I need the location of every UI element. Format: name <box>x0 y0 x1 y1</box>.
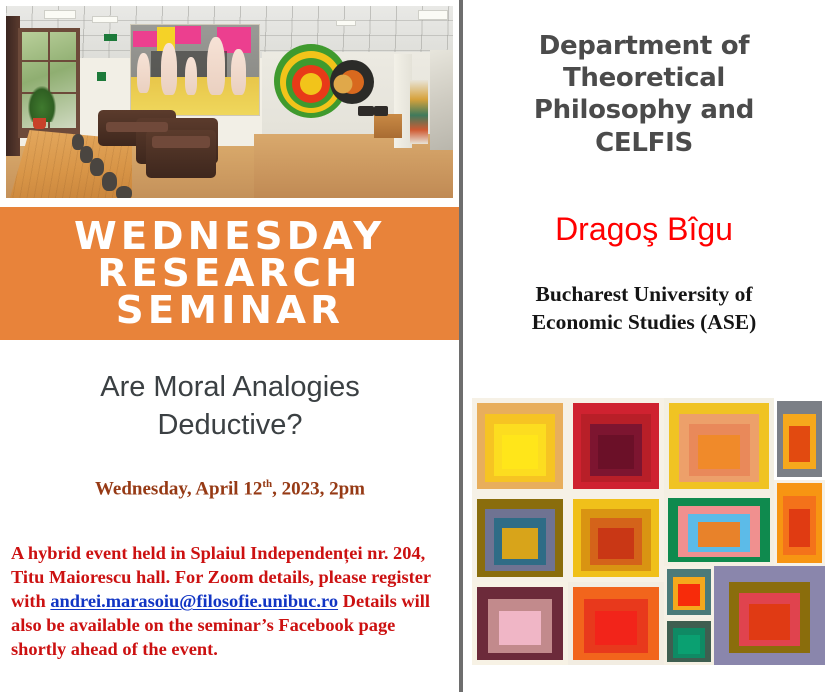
artwork-collage <box>472 398 825 665</box>
artwork-square-layer <box>789 426 811 461</box>
talk-date-ordinal: th <box>262 478 272 490</box>
department-name: Department of Theoretical Philosophy and… <box>477 30 811 159</box>
artwork-square-layer <box>502 435 538 469</box>
artwork-square-layer <box>749 604 791 640</box>
artwork-tile-crimson-homage <box>568 398 664 494</box>
artwork-square-layer <box>698 522 740 548</box>
talk-title-line-1: Are Moral Analogies <box>20 368 440 406</box>
artwork-tile-orange-red-homage <box>774 480 825 566</box>
seminar-poster: Wednesday Research Seminar Are Moral Ana… <box>0 0 825 692</box>
artwork-tile-green-homage <box>664 618 714 665</box>
artwork-square-layer <box>502 528 538 559</box>
department-line-3: Philosophy and <box>477 94 811 126</box>
department-line-1: Department of <box>477 30 811 62</box>
registration-email-link[interactable]: andrei.marasoiu@filosofie.unibuc.ro <box>50 591 338 611</box>
speaker-affiliation-line-1: Bucharest University of <box>477 280 811 308</box>
artwork-tile-green-pink-folded <box>664 494 774 566</box>
artwork-square-layer <box>499 611 540 645</box>
artwork-square-layer <box>698 435 740 469</box>
department-line-2: Theoretical <box>477 62 811 94</box>
artwork-tile-vermilion-gray-frame <box>774 398 825 480</box>
artwork-tile-gold-red-homage <box>568 494 664 582</box>
artwork-tile-scarlet-on-teal <box>664 566 714 618</box>
artwork-square-layer <box>789 509 811 546</box>
banner-line-2: Research <box>97 255 361 292</box>
artwork-tile-olive-blue-homage <box>472 494 568 582</box>
speaker-affiliation-line-2: Economic Studies (ASE) <box>477 308 811 336</box>
artwork-tile-orange-on-gold-paper <box>664 398 774 494</box>
artwork-tile-yellow-homage <box>472 398 568 494</box>
talk-title-line-2: Deductive? <box>20 406 440 444</box>
artwork-square-layer <box>678 635 699 654</box>
venue-photo <box>6 6 453 198</box>
speaker-name: Dragoş Bîgu <box>477 211 811 248</box>
artwork-square-layer <box>595 611 636 645</box>
artwork-tile-red-overlay-study <box>568 582 664 665</box>
talk-title: Are Moral Analogies Deductive? <box>20 368 440 445</box>
banner-line-3: Seminar <box>115 292 343 329</box>
artwork-tile-violet-olive-variant <box>714 566 825 665</box>
right-column: Department of Theoretical Philosophy and… <box>463 0 825 692</box>
artwork-square-layer <box>598 528 634 559</box>
talk-date-prefix: Wednesday, April 12 <box>95 478 262 499</box>
talk-datetime: Wednesday, April 12th, 2023, 2pm <box>20 478 440 500</box>
artwork-square-layer <box>598 435 634 469</box>
speaker-affiliation: Bucharest University of Economic Studies… <box>477 280 811 337</box>
left-column: Wednesday Research Seminar Are Moral Ana… <box>0 0 459 692</box>
talk-date-suffix: , 2023, 2pm <box>272 478 365 499</box>
banner-line-1: Wednesday <box>74 218 385 255</box>
artwork-tile-mauve-prism-study <box>472 582 568 665</box>
event-details: A hybrid event held in Splaiul Independe… <box>11 541 453 662</box>
seminar-banner: Wednesday Research Seminar <box>0 207 459 340</box>
department-line-4: CELFIS <box>477 127 811 159</box>
artwork-square-layer <box>678 584 699 605</box>
